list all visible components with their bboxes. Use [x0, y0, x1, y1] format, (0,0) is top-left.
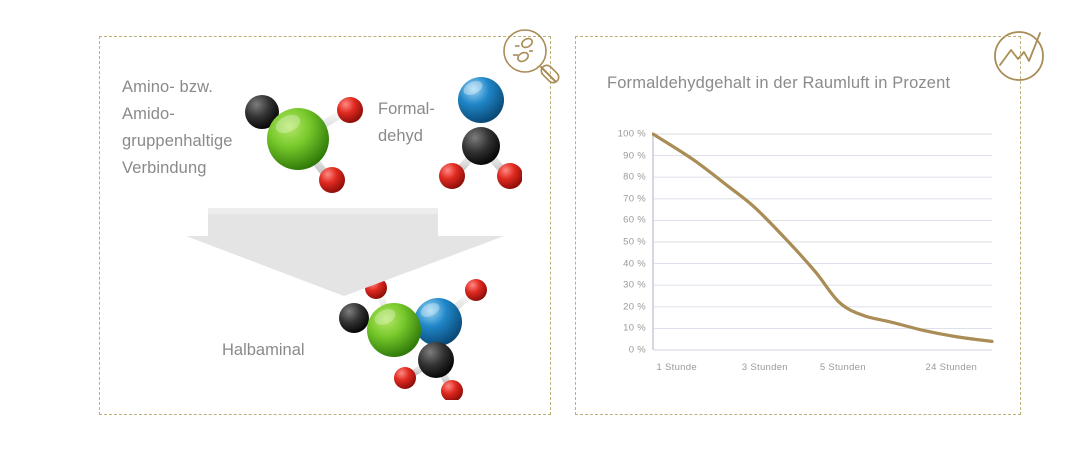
y-axis-tick: 0 %	[602, 345, 646, 356]
halbaminal-label: Halbaminal	[222, 338, 305, 362]
amino-group-molecule-icon	[238, 84, 374, 196]
atom-black	[339, 303, 369, 333]
x-axis-tick: 5 Stunden	[820, 362, 866, 373]
atom-red	[337, 97, 363, 123]
x-axis-tick: 3 Stunden	[742, 362, 788, 373]
chart-series-line	[653, 134, 992, 341]
atom-black	[462, 127, 500, 165]
reaction-down-arrow-icon	[186, 208, 504, 296]
y-axis-tick: 60 %	[602, 215, 646, 226]
atom-red	[497, 163, 522, 189]
x-axis-tick: 1 Stunde	[657, 362, 697, 373]
atom-red	[319, 167, 345, 193]
y-axis: 100 %90 %80 %70 %60 %50 %40 %30 %20 %10 …	[600, 124, 646, 384]
chart-title: Formaldehydgehalt in der Raumluft in Pro…	[607, 74, 950, 93]
y-axis-tick: 40 %	[602, 258, 646, 269]
line-chart: 100 %90 %80 %70 %60 %50 %40 %30 %20 %10 …	[600, 124, 1000, 384]
x-axis-tick: 24 Stunden	[926, 362, 978, 373]
y-axis-tick: 90 %	[602, 150, 646, 161]
chart-plot-area	[652, 124, 1000, 384]
y-axis-tick: 20 %	[602, 301, 646, 312]
y-axis-tick: 100 %	[602, 129, 646, 140]
atom-red	[394, 367, 416, 389]
atom-black	[418, 342, 454, 378]
y-axis-tick: 50 %	[602, 237, 646, 248]
y-axis-tick: 80 %	[602, 172, 646, 183]
y-axis-tick: 70 %	[602, 193, 646, 204]
magnifier-molecules-icon	[496, 22, 568, 94]
y-axis-tick: 10 %	[602, 323, 646, 334]
y-axis-tick: 30 %	[602, 280, 646, 291]
atom-red	[439, 163, 465, 189]
